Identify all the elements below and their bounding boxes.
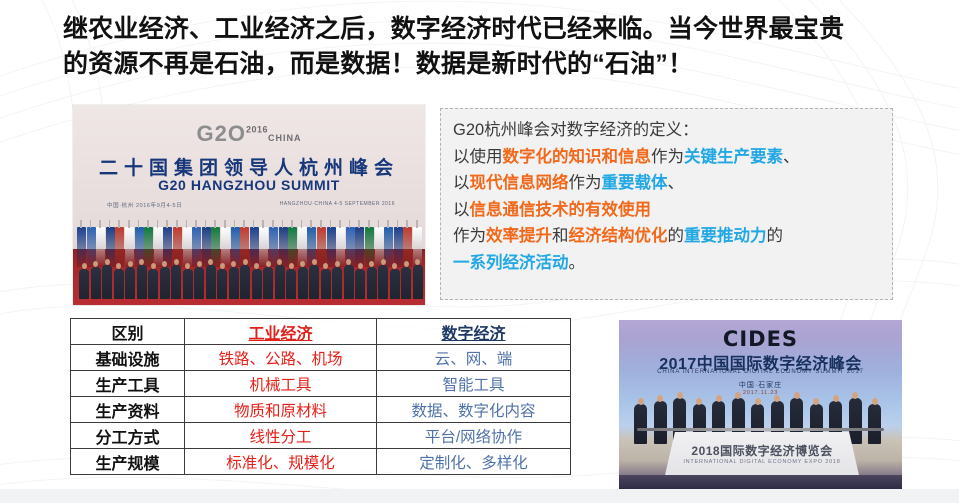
guest-figure [654,401,667,444]
definition-line: 一系列经济活动。 [453,250,882,277]
definition-text-plain: 作为 [651,148,684,166]
table-cell: 平台/网络协作 [377,423,571,449]
leader-figure [367,267,377,299]
definition-text-plain: 、 [783,148,800,166]
cides-summit-photo: CIDES 2017中国国际数字经济峰会 CHINA INTERNATIONAL… [619,320,902,491]
definition-text-orange: 效率提升 [486,227,552,245]
guest-figure [868,404,881,444]
table-header-cell: 区别 [71,319,185,345]
leader-figure [252,269,262,299]
definition-text-plain: 的 [767,227,784,245]
leader-figure [217,269,227,299]
table-row: 生产资料物质和原材料数据、数字化内容 [71,397,571,423]
table-cell: 云、网、端 [377,345,571,371]
definition-text-plain: 作为 [569,174,602,192]
definition-text-plain: 和 [552,227,569,245]
g20-logo-country: CHINA [268,133,302,143]
page-title: 继农业经济、工业经济之后，数字经济时代已经来临。当今世界最宝贵 的资源不再是石油… [63,12,943,82]
table-header-cell: 数字经济 [377,319,571,345]
g20-logo: G2O2016CHINA [73,121,425,147]
definition-line: 以信息通信技术的有效使用 [453,197,882,224]
cides-english-title: CHINA INTERNATIONAL DIGITAL ECONOMY SUMM… [619,369,902,375]
g20-english-title: G20 HANGZHOU SUMMIT [73,177,425,193]
g20-logo-main: G2O [197,121,246,146]
g20-subtitle-left: 中国·杭州 2016年9月4-5日 [107,201,182,209]
definition-text-orange: 经济结构优化 [569,227,668,245]
table-cell: 线性分工 [185,423,377,449]
table-cell: 机械工具 [185,371,377,397]
guest-figure [634,404,647,444]
table-cell: 标准化、规模化 [185,449,377,475]
definition-line: 以现代信息网络作为重要载体、 [453,170,882,197]
definition-text-plain: G20杭州峰会对数字经济的定义： [453,121,699,139]
leader-figure [355,269,365,299]
table-cell: 定制化、多样化 [377,449,571,475]
leader-figure [286,269,296,299]
table-cell: 生产工具 [71,371,185,397]
leader-figure [91,267,101,299]
leader-figure [378,265,388,299]
leader-figure [240,265,250,299]
definition-text-blue: 一系列经济活动 [453,254,569,272]
definition-line: 以使用数字化的知识和信息作为关键生产要素、 [453,144,882,171]
leader-figure [194,267,204,299]
definition-text-orange: 信息通信技术的有效使用 [470,201,652,219]
definition-text-orange: 现代信息网络 [470,174,569,192]
table-row: 生产工具机械工具智能工具 [71,371,571,397]
leader-figure [102,265,112,299]
leader-figure [148,269,158,299]
leader-figure [309,265,319,299]
leader-figure [206,265,216,299]
leader-figure [160,267,170,299]
leader-figure [344,265,354,299]
cides-place: 中国·石家庄 [619,380,902,390]
table-row: 分工方式线性分工平台/网络协作 [71,423,571,449]
definition-text-plain: 以 [453,201,470,219]
cides-panel-chinese: 2018国际数字经济博览会 [663,442,861,459]
definition-text-blue: 重要推动力 [684,227,767,245]
cides-logo: CIDES [619,327,902,351]
leader-figure [114,269,124,299]
cides-panel-english: INTERNATIONAL DIGITAL ECONOMY EXPO 2018 [663,459,861,465]
leader-figure [401,267,411,299]
definition-text-blue: 关键生产要素 [684,148,783,166]
definition-line: G20杭州峰会对数字经济的定义： [453,117,882,144]
leader-figure [171,265,181,299]
definition-text-plain: 的 [668,227,685,245]
g20-summit-photo: G2O2016CHINA 二十国集团领导人杭州峰会 G20 HANGZHOU S… [73,105,425,305]
g20-definition-box: G20杭州峰会对数字经济的定义：以使用数字化的知识和信息作为关键生产要素、以现代… [440,108,893,300]
table-cell: 生产资料 [71,397,185,423]
table-cell: 基础设施 [71,345,185,371]
g20-chinese-title: 二十国集团领导人杭州峰会 [73,153,425,180]
definition-text-orange: 数字化的知识和信息 [503,148,652,166]
table-row: 生产规模标准化、规模化定制化、多样化 [71,449,571,475]
table-cell: 生产规模 [71,449,185,475]
cides-ribbon-bar [637,428,884,431]
table-row: 基础设施铁路、公路、机场云、网、端 [71,345,571,371]
table-header-row: 区别工业经济数字经济 [71,319,571,345]
table-cell: 数据、数字化内容 [377,397,571,423]
economy-comparison-table: 区别工业经济数字经济基础设施铁路、公路、机场云、网、端生产工具机械工具智能工具生… [70,318,571,475]
table-cell: 物质和原材料 [185,397,377,423]
leader-figure [321,269,331,299]
definition-text-plain: 作为 [453,227,486,245]
leader-figure [332,267,342,299]
guest-figure [849,398,862,444]
slide-canvas: 继农业经济、工业经济之后，数字经济时代已经来临。当今世界最宝贵 的资源不再是石油… [0,0,959,503]
g20-leaders-row [73,255,425,299]
definition-text-blue: 重要载体 [602,174,668,192]
definition-text-plain: 以 [453,174,470,192]
leader-figure [229,267,239,299]
leader-figure [413,265,423,299]
bottom-band [0,489,959,503]
leader-figure [263,267,273,299]
definition-text-plain: 以使用 [453,148,503,166]
leader-figure [125,267,135,299]
definition-text-plain: 、 [668,174,685,192]
table-cell: 分工方式 [71,423,185,449]
table-header-cell: 工业经济 [185,319,377,345]
table-cell: 铁路、公路、机场 [185,345,377,371]
definition-line: 作为效率提升和经济结构优化的重要推动力的 [453,223,882,250]
leader-figure [275,265,285,299]
g20-subtitle-right: HANGZHOU·CHINA 4-5 SEPTEMBER 2016 [280,201,395,207]
table-cell: 智能工具 [377,371,571,397]
definition-text-plain: 。 [569,254,586,272]
leader-figure [137,265,147,299]
leader-figure [298,267,308,299]
g20-logo-year: 2016 [246,125,268,135]
leader-figure [390,269,400,299]
leader-figure [79,269,89,299]
leader-figure [183,269,193,299]
